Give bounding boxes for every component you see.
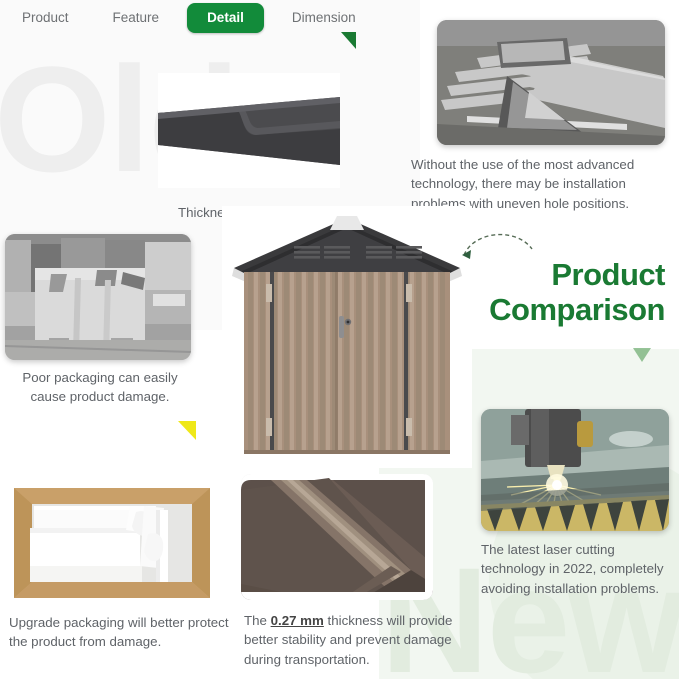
tab-dimension[interactable]: Dimension (270, 3, 378, 33)
tab-detail[interactable]: Detail (187, 3, 264, 33)
image-old-roof-parts (437, 20, 665, 145)
image-old-panel-edge (158, 73, 340, 188)
product-detail-page: Old New Product Feature Detail Dimension… (0, 0, 679, 679)
caption-upgrade-packaging: Upgrade packaging will better protect th… (9, 613, 229, 652)
caption-thickness-new-prefix: The (244, 613, 271, 628)
page-title-line1: Product (415, 258, 665, 293)
page-title-line2: Comparison (415, 293, 665, 328)
caption-thickness-new: The 0.27 mm thickness will provide bette… (244, 611, 470, 669)
page-title: Product Comparison (415, 258, 665, 327)
caption-poor-packaging: Poor packaging can easily cause product … (6, 368, 194, 407)
image-new-panel-edge (241, 474, 433, 600)
thickness-value: 0.27 mm (271, 613, 324, 628)
image-new-packaging (6, 478, 218, 606)
image-old-packaging (5, 234, 191, 360)
caption-uneven-holes: Without the use of the most advanced tec… (411, 155, 663, 213)
yellow-down-triangle-icon (178, 421, 196, 440)
image-laser-cutting (481, 409, 669, 531)
tab-feature[interactable]: Feature (91, 3, 182, 33)
green-down-triangle-icon (341, 32, 356, 49)
green-down-triangle-small-icon (633, 348, 651, 362)
image-shed-product (222, 206, 472, 468)
tab-product[interactable]: Product (0, 3, 91, 33)
caption-laser-cutting: The latest laser cutting technology in 2… (481, 540, 677, 598)
